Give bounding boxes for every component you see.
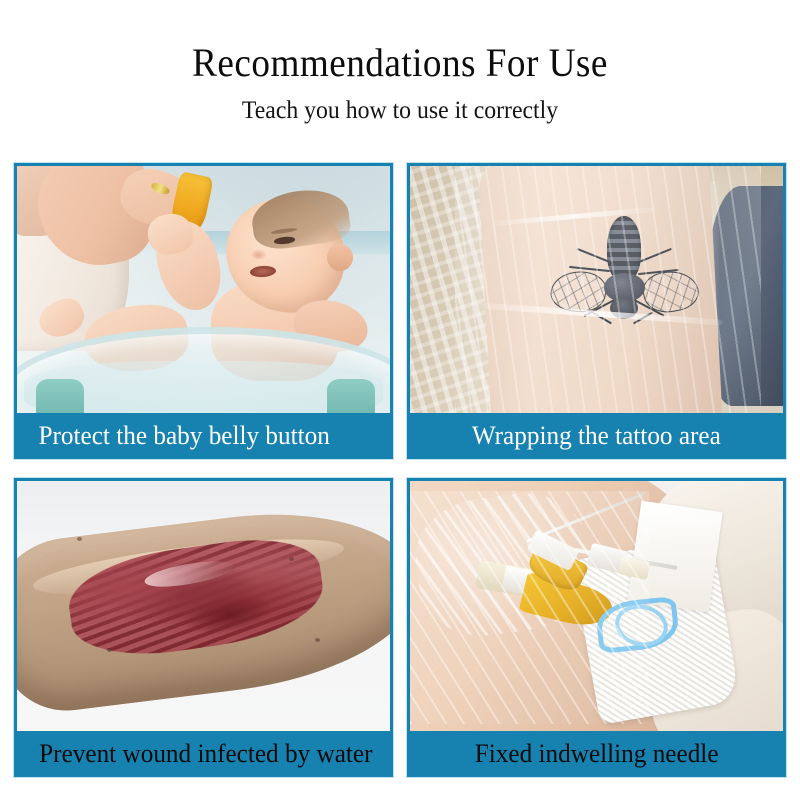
product-info-page: Recommendations For Use Teach you how to… [0,0,800,800]
bathtub-grip-left [36,379,84,417]
panel-caption-wrapping-the-tattoo-area: Wrapping the tattoo area [407,413,786,459]
usage-panel-wrapping-the-tattoo-area[interactable]: Wrapping the tattoo area [407,163,786,459]
photo-bee-tattoo-wrapped [410,166,783,416]
photo-baby-in-bathtub [17,166,390,416]
panel-caption-fixed-indwelling-needle: Fixed indwelling needle [407,731,786,777]
usage-panel-protect-baby-belly-button[interactable]: Protect the baby belly button [14,163,393,459]
page-title: Recommendations For Use [28,0,772,84]
wound-speck [77,537,82,541]
photo-leg-abrasion-wound [17,481,390,734]
usage-panel-fixed-indwelling-needle[interactable]: Fixed indwelling needle [407,478,786,777]
page-subtitle: Teach you how to use it correctly [20,84,780,124]
transparent-film-dressing [410,491,649,724]
usage-panel-grid: Protect the baby belly button [14,163,786,777]
baby-nose [250,249,267,259]
caption-text: Wrapping the tattoo area [472,423,721,449]
wound-speck [107,648,112,652]
panel-caption-prevent-wound-infected-by-water: Prevent wound infected by water [14,731,393,777]
caption-text: Fixed indwelling needle [475,741,719,767]
transparent-film-wrap [455,166,761,416]
baby-ear [327,244,353,272]
page-header: Recommendations For Use Teach you how to… [0,0,800,124]
bathtub-grip-right [327,379,375,417]
photo-iv-indwelling-needle [410,481,783,734]
panel-caption-protect-baby-belly-button: Protect the baby belly button [14,413,393,459]
caption-text: Prevent wound infected by water [39,741,372,767]
usage-panel-prevent-wound-infected-by-water[interactable]: Prevent wound infected by water [14,478,393,777]
caption-text: Protect the baby belly button [39,423,330,449]
